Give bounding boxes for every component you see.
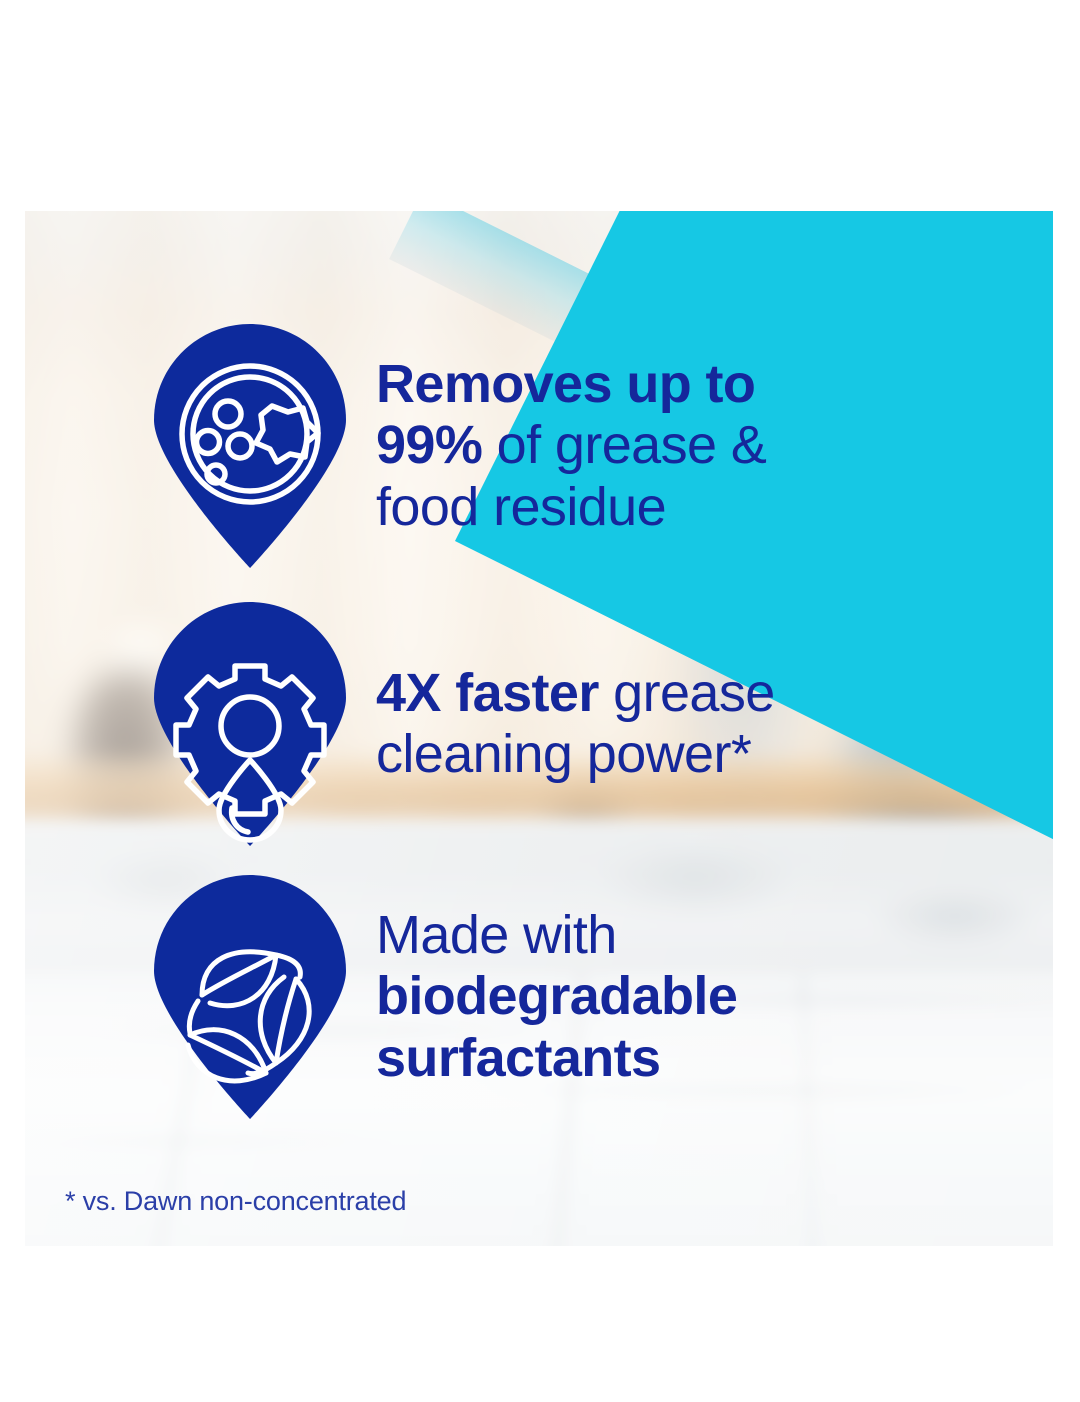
feature-segment: 99% (376, 415, 482, 475)
feature-segment: Removes up to (376, 354, 755, 414)
feature-segment: cleaning power* (376, 724, 751, 784)
plate-with-food-residue-droplet-icon (150, 322, 350, 570)
gear-with-droplet-icon (150, 600, 350, 848)
feature-text: Removes up to 99% of grease & food resid… (376, 354, 766, 537)
three-leaves-recycle-droplet-icon (150, 873, 350, 1121)
feature-text: 4X faster grease cleaning power* (376, 663, 775, 785)
feature-line: cleaning power* (376, 724, 775, 785)
feature-line: food residue (376, 477, 766, 538)
feature-row: Made with biodegradable surfactants (25, 873, 1053, 1121)
feature-segment: biodegradable (376, 966, 737, 1026)
feature-line: 99% of grease & (376, 415, 766, 476)
feature-segment: Made with (376, 905, 617, 965)
feature-line: biodegradable (376, 966, 737, 1027)
feature-text: Made with biodegradable surfactants (376, 905, 737, 1088)
product-benefits-panel: Removes up to 99% of grease & food resid… (25, 211, 1053, 1246)
feature-row: Removes up to 99% of grease & food resid… (25, 322, 1053, 570)
feature-line: 4X faster grease (376, 663, 775, 724)
feature-line: Removes up to (376, 354, 766, 415)
feature-segment: surfactants (376, 1028, 661, 1088)
feature-segment: 4X faster (376, 663, 599, 723)
feature-row: 4X faster grease cleaning power* (25, 600, 1053, 848)
image-canvas: Removes up to 99% of grease & food resid… (0, 0, 1080, 1402)
feature-segment: of grease & (482, 415, 766, 475)
feature-line: surfactants (376, 1028, 737, 1089)
feature-segment: grease (599, 663, 775, 723)
feature-list: Removes up to 99% of grease & food resid… (25, 211, 1053, 1246)
feature-line: Made with (376, 905, 737, 966)
feature-segment: food residue (376, 477, 666, 537)
footnote-disclaimer: * vs. Dawn non-concentrated (65, 1186, 406, 1217)
